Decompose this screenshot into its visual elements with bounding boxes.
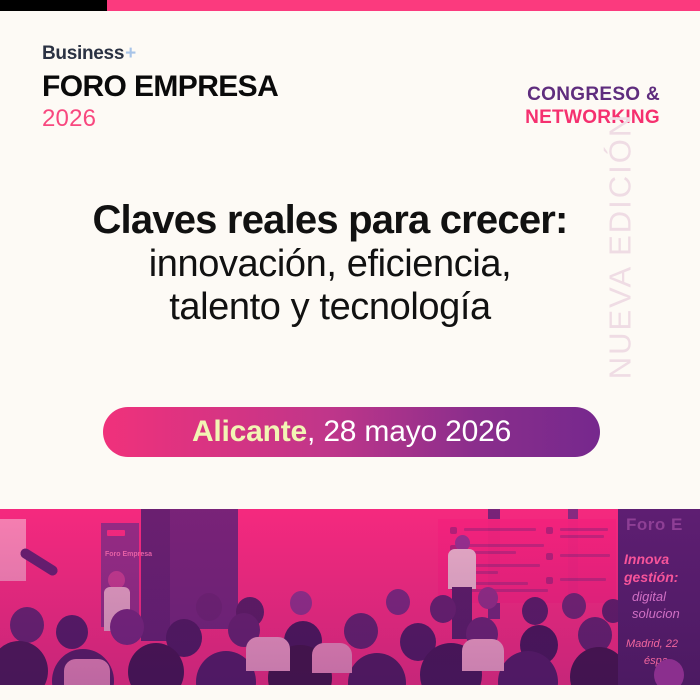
- screen-text-10: [560, 554, 610, 557]
- panel-sub-line-2: solucion: [632, 606, 680, 621]
- speaker-right-torso: [448, 549, 476, 589]
- panel-title: Innova gestión:: [624, 551, 678, 586]
- headline-line-1: Claves reales para crecer:: [0, 198, 660, 243]
- brand-name: Business: [42, 44, 124, 63]
- audience-head: [386, 589, 410, 615]
- audience-head: [290, 591, 312, 615]
- brand-plus-icon: +: [125, 44, 136, 63]
- side-label-nueva-edicion: NUEVA EDICIÓN: [603, 113, 639, 380]
- audience-garment-light: [64, 659, 110, 685]
- top-bar-black-segment: [0, 0, 107, 11]
- audience-head: [196, 593, 222, 621]
- rollup-logo-icon: [107, 530, 125, 536]
- event-kicker: CONGRESO & NETWORKING: [525, 83, 660, 129]
- panel-meta-location: Madrid, 22: [626, 637, 678, 653]
- bottom-strip: [0, 685, 700, 700]
- panel-subtitle: digital solucion: [632, 589, 680, 623]
- photo-band: Foro Empresa: [0, 509, 700, 685]
- screen-icon-6: [546, 553, 553, 560]
- screen-icon-7: [546, 577, 553, 584]
- event-date: , 28 mayo 2026: [307, 415, 511, 448]
- panel-portrait: [654, 659, 684, 685]
- audience-garment-light: [246, 637, 290, 671]
- rollup-banner-text: Foro Empresa: [105, 551, 152, 558]
- brand-lockup: Business+ FORO EMPRESA 2026: [42, 44, 278, 131]
- screen-text-7: [464, 589, 548, 592]
- audience-head: [344, 613, 378, 649]
- audience-head: [562, 593, 586, 619]
- photo-side-panel: Foro E Innova gestión: digital solucion …: [618, 509, 700, 685]
- audience-garment-light: [312, 643, 352, 673]
- panel-title-line-1: Innova: [624, 551, 669, 567]
- headline: Claves reales para crecer: innovación, e…: [0, 198, 660, 329]
- panel-heading: Foro E: [626, 515, 683, 535]
- audience-head: [56, 615, 88, 649]
- brand-wordmark: Business+: [42, 44, 278, 63]
- audience-head: [522, 597, 548, 625]
- panel-title-line-2: gestión:: [624, 569, 678, 585]
- audience-head: [10, 607, 44, 643]
- audience-head-foreground: [348, 653, 406, 685]
- kicker-line-networking: NETWORKING: [525, 106, 660, 129]
- panel-sub-line-1: digital: [632, 589, 666, 604]
- kicker-line-congreso: CONGRESO &: [525, 83, 660, 106]
- screen-text-9: [560, 535, 604, 538]
- screen-icon-1: [450, 527, 457, 534]
- top-accent-bar: [0, 0, 700, 11]
- photo-content: Foro Empresa: [0, 509, 700, 685]
- screen-text-1: [464, 528, 536, 531]
- audience-head: [110, 609, 144, 645]
- audience-head-foreground: [0, 641, 48, 685]
- screen-text-2: [464, 544, 544, 547]
- top-bar-pink-segment: [107, 0, 700, 11]
- pillar-left: [141, 509, 170, 641]
- date-location-pill[interactable]: Alicante, 28 mayo 2026: [103, 407, 600, 457]
- event-year: 2026: [42, 107, 278, 131]
- audience-head: [430, 595, 456, 623]
- audience-garment-light: [462, 639, 504, 671]
- screen-icon-5: [546, 527, 553, 534]
- event-poster: Business+ FORO EMPRESA 2026 CONGRESO & N…: [0, 0, 700, 700]
- screen-text-8: [560, 528, 608, 531]
- date-location-text: Alicante, 28 mayo 2026: [192, 415, 511, 449]
- headline-line-3: talento y tecnología: [0, 286, 660, 329]
- audience-head: [478, 587, 498, 609]
- headline-line-2: innovación, eficiencia,: [0, 243, 660, 286]
- event-city: Alicante: [192, 415, 307, 448]
- screen-text-11: [560, 578, 606, 581]
- event-title: FORO EMPRESA: [42, 72, 278, 102]
